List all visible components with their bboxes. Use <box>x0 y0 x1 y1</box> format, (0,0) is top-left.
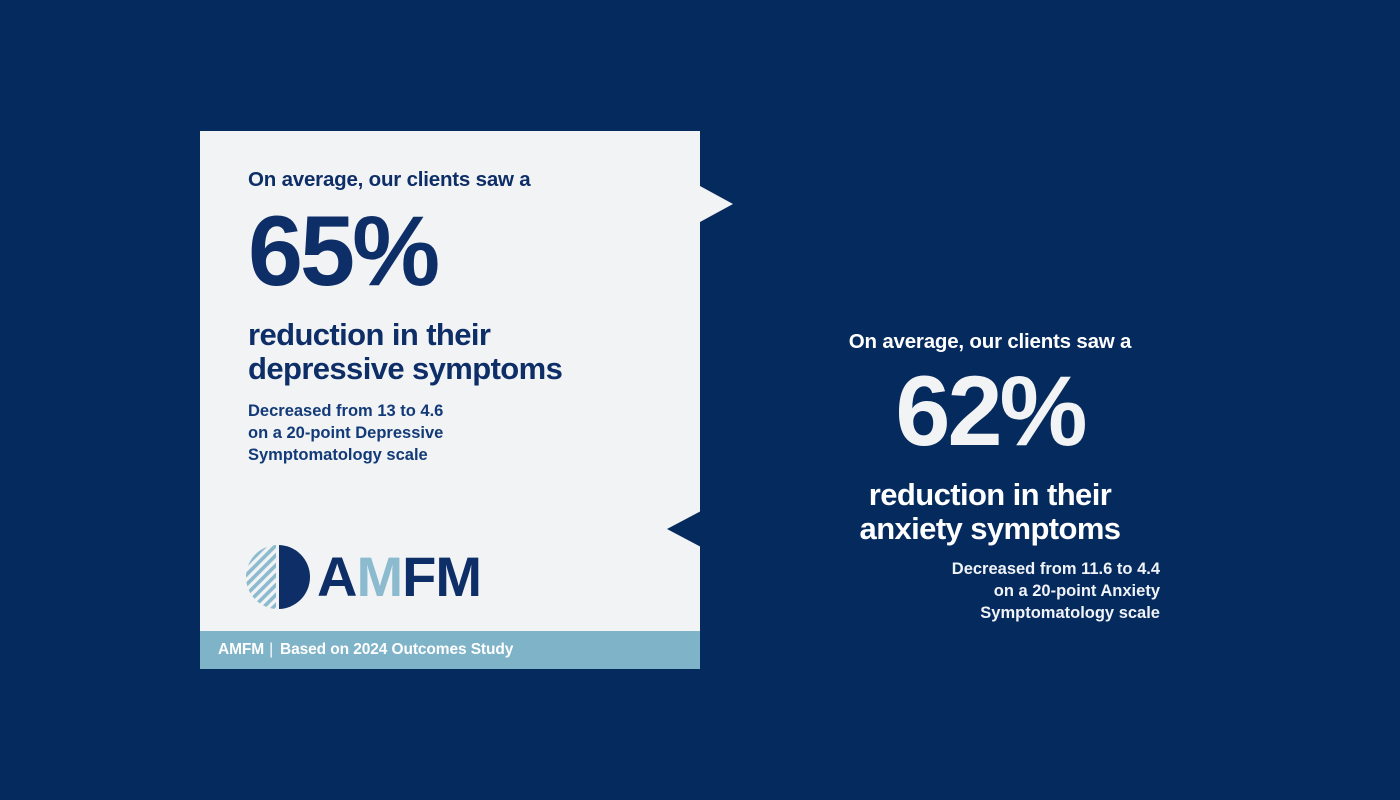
caption-mid: to <box>396 402 421 420</box>
caption-line3: Symptomatology scale <box>248 446 428 464</box>
amfm-logo-mark-icon <box>245 544 311 610</box>
infographic-canvas: On average, our clients saw a 65% reduct… <box>0 0 1400 800</box>
depression-subheadline-line1: reduction in their <box>248 317 490 352</box>
anxiety-subheadline-line2: anxiety symptoms <box>860 511 1121 546</box>
anxiety-caption-prefix: Decreased from <box>952 560 1081 578</box>
panel-lede-text: On average, our clients saw a <box>820 330 1160 355</box>
anxiety-caption-mid: to <box>1112 560 1137 578</box>
caption-prefix: Decreased from <box>248 402 377 420</box>
depression-subheadline: reduction in their depressive symptoms <box>248 318 680 387</box>
speech-bubble-tail-upper <box>700 186 733 222</box>
caption-line2: on a 20-point Depressive <box>248 424 443 442</box>
anxiety-stat-panel: On average, our clients saw a 62% reduct… <box>820 330 1160 625</box>
amfm-logo-wordmark: AMFM <box>317 549 481 605</box>
anxiety-caption-to-value: 4.4 <box>1137 560 1160 578</box>
logo-letter-m-light: M <box>356 549 402 605</box>
caption-to-value: 4.6 <box>420 402 443 420</box>
footer-brand-label: AMFM <box>218 641 264 658</box>
source-attribution-bar: AMFM|Based on 2024 Outcomes Study <box>200 631 700 669</box>
anxiety-subheadline: reduction in their anxiety symptoms <box>820 478 1160 547</box>
amfm-logo: AMFM <box>245 544 481 610</box>
card-lede-text: On average, our clients saw a <box>248 168 680 193</box>
anxiety-caption-line2: on a 20-point Anxiety <box>994 582 1160 600</box>
speech-bubble-tail-lower <box>667 511 701 547</box>
anxiety-reduction-stat: 62% <box>820 361 1160 460</box>
anxiety-caption: Decreased from 11.6 to 4.4 on a 20-point… <box>820 559 1160 625</box>
depression-reduction-stat: 65% <box>248 201 680 300</box>
depression-subheadline-line2: depressive symptoms <box>248 351 562 386</box>
footer-study-label: Based on 2024 Outcomes Study <box>280 641 513 658</box>
caption-from-value: 13 <box>377 402 395 420</box>
anxiety-caption-from-value: 11.6 <box>1081 560 1112 578</box>
anxiety-subheadline-line1: reduction in their <box>869 477 1111 512</box>
footer-separator: | <box>269 641 273 659</box>
logo-letter-f: F <box>402 549 435 605</box>
anxiety-caption-line3: Symptomatology scale <box>980 604 1160 622</box>
card-content: On average, our clients saw a 65% reduct… <box>248 168 680 467</box>
depression-caption: Decreased from 13 to 4.6 on a 20-point D… <box>248 401 680 467</box>
logo-letter-m: M <box>435 549 481 605</box>
logo-letter-a: A <box>317 549 356 605</box>
source-attribution-text: AMFM|Based on 2024 Outcomes Study <box>218 641 513 659</box>
